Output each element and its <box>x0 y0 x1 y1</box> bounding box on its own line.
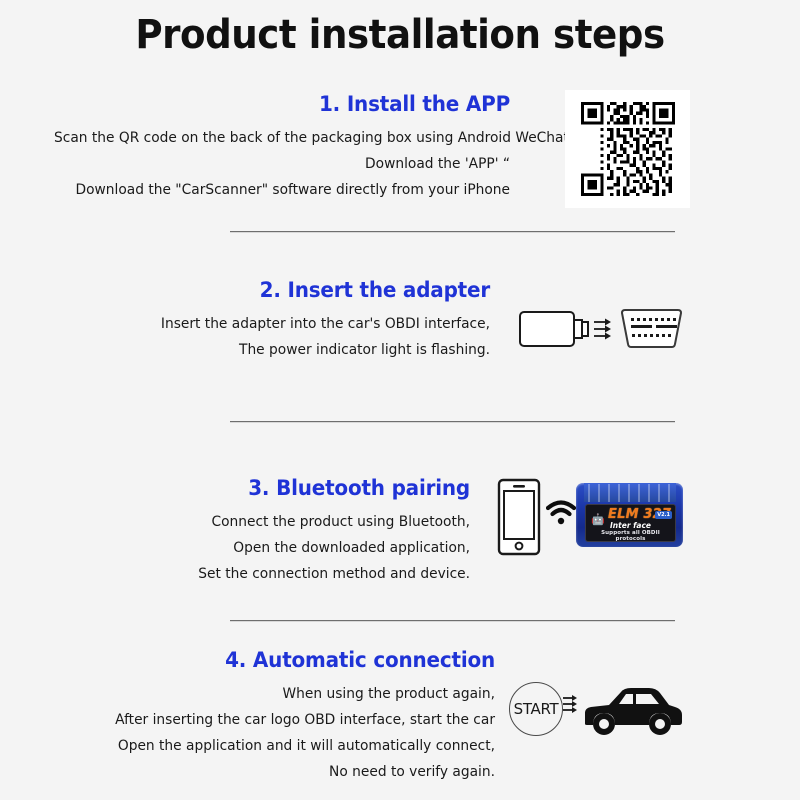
step-2-heading: 2. Insert the adapter <box>91 278 490 302</box>
step-4-line-1: When using the product again, <box>87 681 496 707</box>
step-2: 2. Insert the adapter Insert the adapter… <box>0 278 800 368</box>
smartphone-icon <box>497 478 541 556</box>
step-1-text: 1. Install the APP Scan the QR code on t… <box>30 92 510 203</box>
step-3-text: 3. Bluetooth pairing Connect the product… <box>70 476 470 587</box>
step-4-line-4: No need to verify again. <box>87 759 496 785</box>
step-2-line-2: The power indicator light is flashing. <box>91 337 490 363</box>
step-1: 1. Install the APP Scan the QR code on t… <box>0 92 800 217</box>
step-1-line-2: Download the 'APP' “ <box>54 151 510 177</box>
step-3-line-2: Open the downloaded application, <box>90 535 470 561</box>
step-1-line-3: Download the "CarScanner" software direc… <box>54 177 510 203</box>
car-icon <box>563 680 685 740</box>
step-4-heading: 4. Automatic connection <box>87 648 496 672</box>
step-3: 3. Bluetooth pairing Connect the product… <box>0 476 800 591</box>
elm327-subtitle: Inter face <box>586 521 675 530</box>
qr-code-card <box>565 90 690 208</box>
qr-code-icon <box>581 102 675 196</box>
start-button-label: START <box>514 700 559 718</box>
step-2-text: 2. Insert the adapter Insert the adapter… <box>70 278 490 363</box>
step-3-line-3: Set the connection method and device. <box>90 561 470 587</box>
step-4: 4. Automatic connection When using the p… <box>0 648 800 788</box>
start-button-illustration: START <box>509 682 563 736</box>
elm327-body: 🤖 ELM 327 V2.1 Inter face Supports all O… <box>576 483 683 547</box>
step-3-heading: 3. Bluetooth pairing <box>90 476 470 500</box>
wifi-signal-illustration <box>546 500 576 533</box>
elm327-label-plate: 🤖 ELM 327 V2.1 Inter face Supports all O… <box>585 504 676 542</box>
elm327-connector-fins <box>588 484 674 502</box>
adapter-obd-illustration <box>518 300 688 365</box>
divider-2 <box>230 421 675 422</box>
smartphone-illustration <box>497 478 541 561</box>
step-1-heading: 1. Install the APP <box>54 92 510 116</box>
step-4-line-3: Open the application and it will automat… <box>87 733 496 759</box>
step-1-line-1: Scan the QR code on the back of the pack… <box>54 125 510 151</box>
step-2-line-1: Insert the adapter into the car's OBDI i… <box>91 311 490 337</box>
step-4-text: 4. Automatic connection When using the p… <box>65 648 495 785</box>
elm327-device-illustration: 🤖 ELM 327 V2.1 Inter face Supports all O… <box>576 483 683 547</box>
wifi-icon <box>546 500 576 528</box>
elm327-protocols: Supports all OBDII protocols <box>586 530 675 542</box>
page-title: Product installation steps <box>28 12 772 58</box>
step-4-line-2: After inserting the car logo OBD interfa… <box>87 707 496 733</box>
divider-3 <box>230 620 675 621</box>
adapter-and-port-icon <box>518 300 688 360</box>
divider-1 <box>230 231 675 232</box>
step-3-line-1: Connect the product using Bluetooth, <box>90 509 470 535</box>
car-illustration <box>563 680 685 745</box>
elm327-version-badge: V2.1 <box>655 511 672 519</box>
